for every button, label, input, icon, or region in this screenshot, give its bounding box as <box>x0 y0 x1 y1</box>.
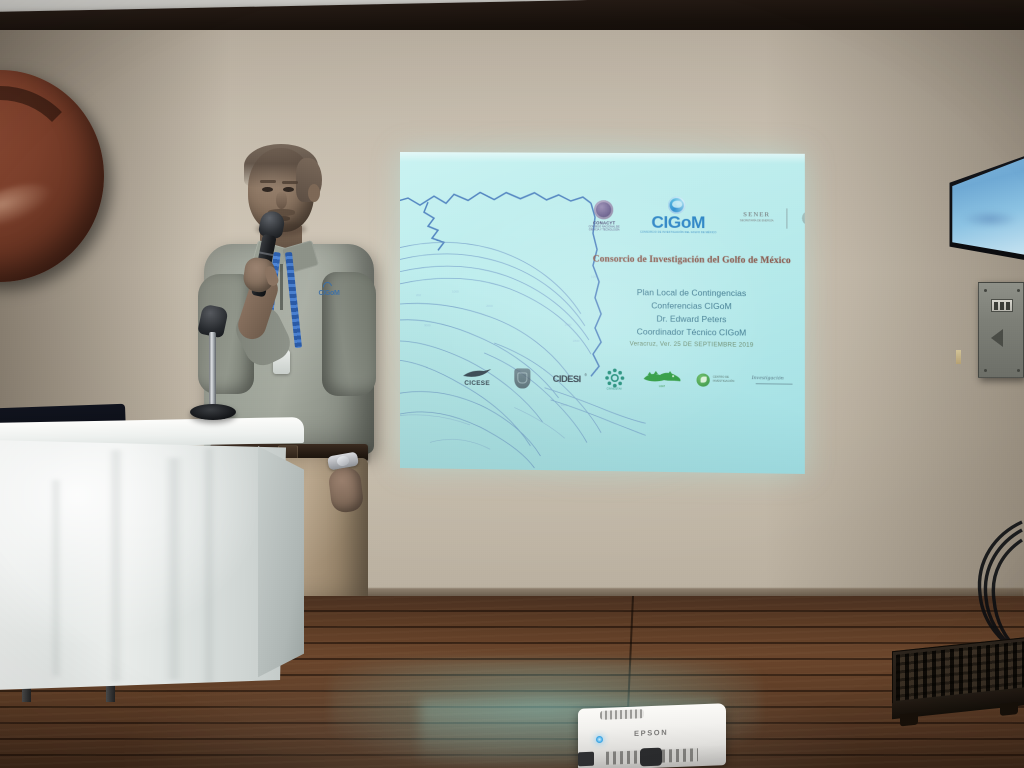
cigom-wordmark: CIGoM <box>629 213 727 231</box>
shirt-logo-wordmark: CIGoM <box>312 290 346 297</box>
chevron-left-icon[interactable] <box>991 329 1003 347</box>
conacyt-seal-icon <box>594 200 613 219</box>
projected-slide: 2001000 20003000 35003600 28002000 1000 … <box>400 152 805 474</box>
desk-mic-stem <box>209 332 216 410</box>
photo-scene: 2001000 20003000 35003600 28002000 1000 … <box>0 0 1024 768</box>
sener-subtitle: SECRETARÍA DE ENERGÍA <box>735 219 778 223</box>
slide-body: Plan Local de Contingencias Conferencias… <box>585 286 799 341</box>
svg-text:200: 200 <box>416 293 421 297</box>
gobierno-seal-logo <box>796 206 805 230</box>
crocodile-icon <box>642 370 683 385</box>
control-panel-display <box>991 299 1013 312</box>
grate-foot <box>900 713 918 727</box>
desk-mic-base <box>190 404 236 420</box>
unam-logo <box>512 367 532 393</box>
draped-table <box>0 420 304 700</box>
script-logo: Investigación <box>752 370 797 397</box>
wall-light-switch[interactable] <box>956 350 961 364</box>
wall-mounted-tv[interactable] <box>944 152 1024 262</box>
svg-text:1000: 1000 <box>591 275 598 279</box>
svg-text:2000: 2000 <box>565 323 572 327</box>
grate-foot <box>1000 702 1018 716</box>
polo-placket <box>280 264 283 310</box>
cicese-logo: CICESE <box>456 367 498 394</box>
projector-vent <box>600 709 644 720</box>
green-circle-logo: CENTRO DE INVESTIGACIÓN <box>697 369 738 396</box>
unam-shield-icon <box>514 368 530 388</box>
panel-screw <box>984 289 987 292</box>
cloth-fold <box>164 458 184 680</box>
white-tablecloth <box>0 440 286 690</box>
logo-divider <box>786 208 787 228</box>
bird-icon <box>462 369 492 379</box>
projector-status-led <box>596 736 603 743</box>
svg-text:2800: 2800 <box>573 339 580 343</box>
script-underline <box>756 383 793 384</box>
cigom-wave-icon <box>668 197 685 214</box>
wall-control-panel[interactable] <box>978 282 1024 378</box>
tv-cloud-detail <box>962 210 1018 228</box>
cidesi-registered-mark: ® <box>585 373 587 377</box>
conacyt-logo: CONACYT CONSEJO NACIONAL DE CIENCIA Y TE… <box>587 200 621 234</box>
presenter-eye <box>262 187 273 192</box>
svg-text:2000: 2000 <box>486 304 493 308</box>
svg-text:3600: 3600 <box>561 403 568 407</box>
leaf-circle-icon <box>697 373 710 386</box>
grated-platform <box>892 637 1024 730</box>
cinvestav-wordmark: CINVESTAV <box>599 387 629 390</box>
cloth-fold <box>108 450 124 682</box>
svg-text:3000: 3000 <box>424 323 431 327</box>
conacyt-subtitle: CONSEJO NACIONAL DE CIENCIA Y TECNOLOGÍA <box>587 225 621 232</box>
epson-projector[interactable]: EPSON <box>578 700 726 768</box>
tablecloth-side-panel <box>258 446 304 682</box>
presenter-eyebrow <box>260 180 276 183</box>
slide-top-logo-row: CONACYT CONSEJO NACIONAL DE CIENCIA Y TE… <box>587 197 799 239</box>
desk-microphone[interactable] <box>190 306 236 428</box>
presenter-ear <box>308 184 320 202</box>
ujat-wordmark: UJAT <box>642 385 683 389</box>
script-wordmark: Investigación <box>752 375 797 382</box>
eagle-seal-icon <box>801 210 805 227</box>
green-logo-label: CENTRO DE INVESTIGACIÓN <box>713 376 737 383</box>
cloth-fold <box>50 480 62 676</box>
projector-lens <box>640 748 662 767</box>
cigom-logo: CIGoM CONSORCIO DE INVESTIGACIÓN DEL GOL… <box>629 197 727 238</box>
slide-title: Consorcio de Investigación del Golfo de … <box>585 253 799 268</box>
cidesi-logo: CIDESI ® <box>547 368 587 395</box>
ujat-crocodile-logo: UJAT <box>642 369 683 396</box>
slide-body-line: Coordinador Técnico CIGoM <box>585 325 799 340</box>
projector-corner-foot <box>578 752 594 767</box>
svg-text:1000: 1000 <box>452 289 459 293</box>
projection-top-fade <box>400 152 805 164</box>
slide-bottom-logo-row: CICESE CIDESI ® C <box>456 365 797 399</box>
shirt-cigom-logo: CIGoM <box>312 282 346 302</box>
panel-screw <box>1017 369 1020 372</box>
sener-wordmark: SENER <box>735 211 778 218</box>
cidesi-wordmark: CIDESI <box>547 374 587 385</box>
presenter-nose <box>276 192 287 209</box>
panel-screw <box>984 369 987 372</box>
cigom-tagline: CONSORCIO DE INVESTIGACIÓN DEL GOLFO DE … <box>634 231 724 235</box>
cicese-wordmark: CICESE <box>456 380 498 388</box>
cloth-fold <box>202 448 216 684</box>
cinvestav-logo: CINVESTAV <box>601 368 627 394</box>
panel-screw <box>1017 289 1020 292</box>
coiled-cables <box>962 520 1024 650</box>
sener-logo: SENER SECRETARÍA DE ENERGÍA <box>735 205 778 232</box>
gear-flower-icon <box>605 368 624 387</box>
